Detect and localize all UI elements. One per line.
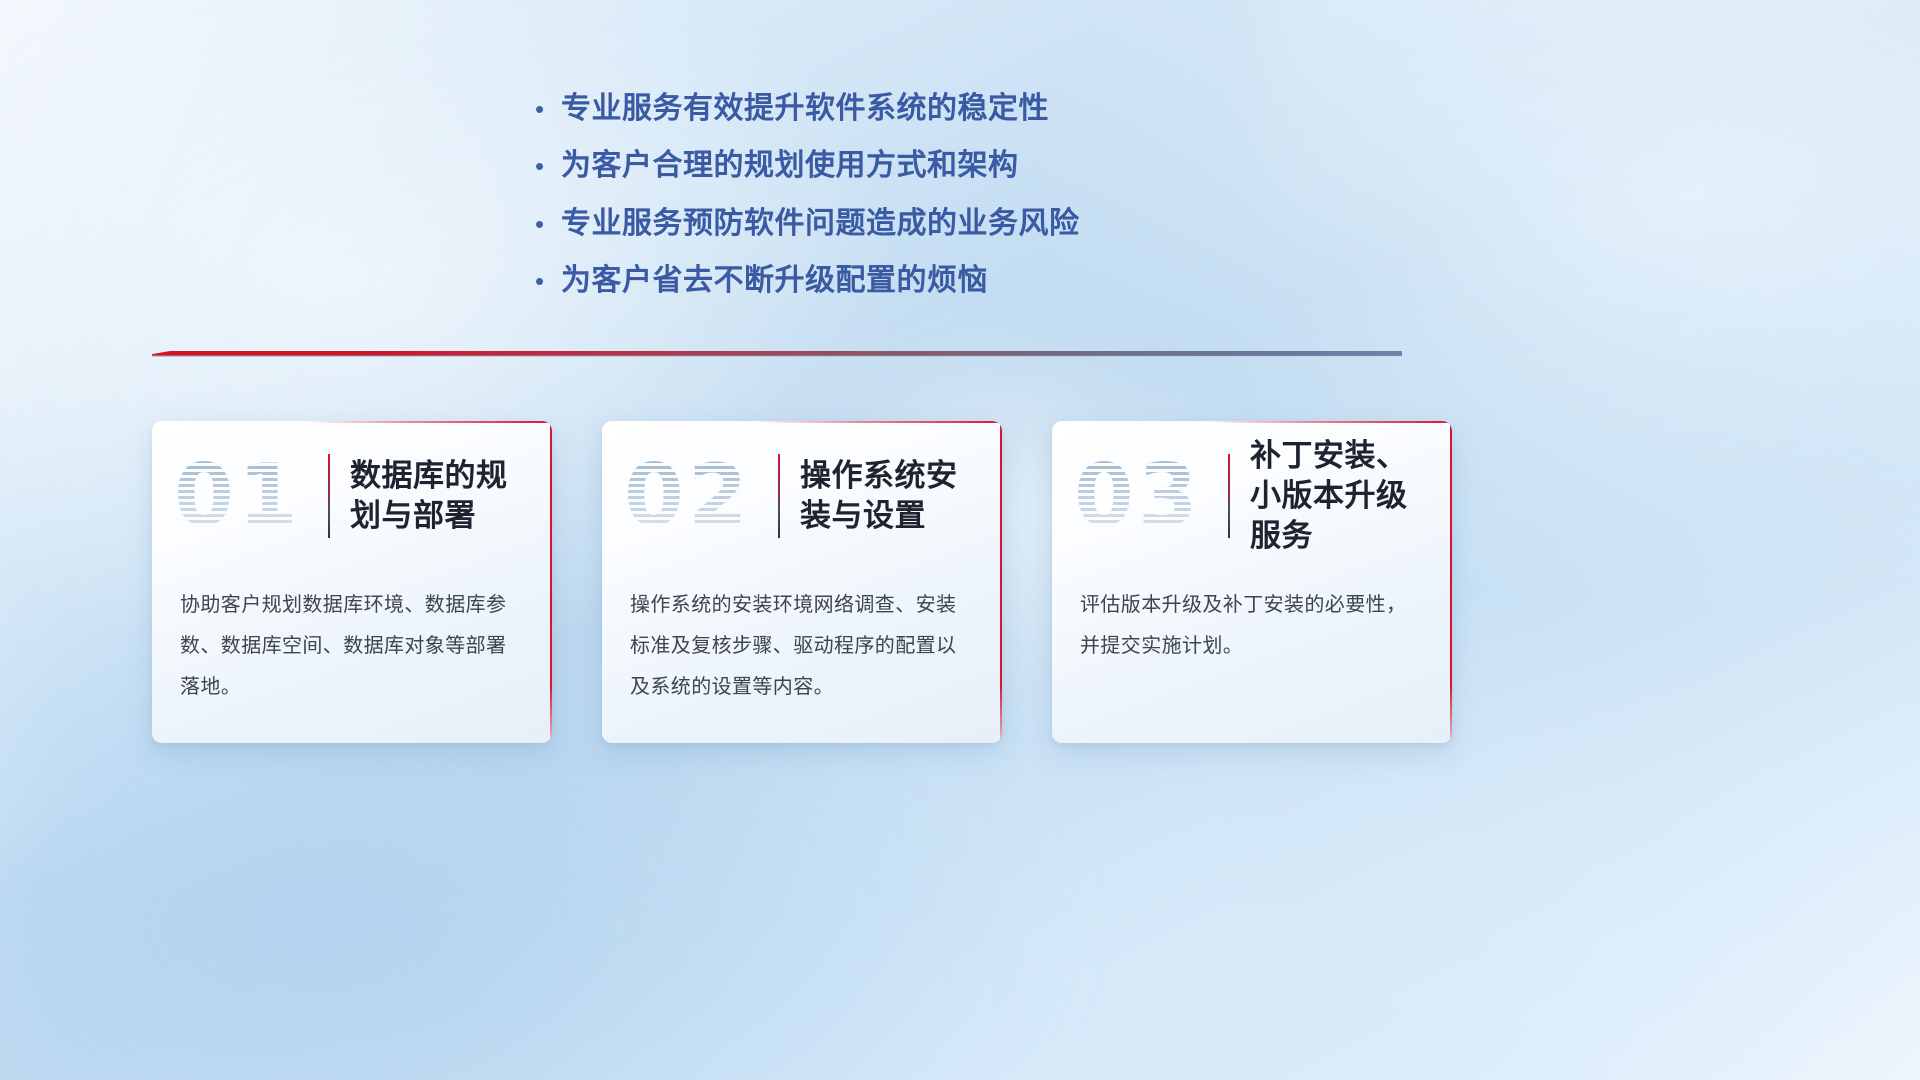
bullet-marker-icon: •: [535, 211, 561, 237]
bullet-text: 专业服务预防软件问题造成的业务风险: [561, 203, 1080, 244]
card-header: 03 补丁安装、小版本升级服务: [1052, 421, 1452, 571]
card-title: 补丁安装、小版本升级服务: [1250, 436, 1452, 555]
card-description: 操作系统的安装环境网络调查、安装标准及复核步骤、驱动程序的配置以及系统的设置等内…: [602, 571, 1002, 708]
card-header: 02 操作系统安装与设置: [602, 421, 1002, 571]
slide-canvas: • 专业服务有效提升软件系统的稳定性 • 为客户合理的规划使用方式和架构 • 专…: [0, 0, 1920, 1080]
card-header: 01 数据库的规划与部署: [152, 421, 552, 571]
service-card-03[interactable]: 03 补丁安装、小版本升级服务 评估版本升级及补丁安装的必要性，并提交实施计划。: [1052, 421, 1452, 743]
service-card-02[interactable]: 02 操作系统安装与设置 操作系统的安装环境网络调查、安装标准及复核步骤、驱动程…: [602, 421, 1002, 743]
bullet-marker-icon: •: [535, 153, 561, 179]
bullet-list: • 专业服务有效提升软件系统的稳定性 • 为客户合理的规划使用方式和架构 • 专…: [535, 88, 1435, 318]
section-divider: [152, 349, 1402, 359]
card-divider-rule: [778, 454, 780, 538]
card-description: 协助客户规划数据库环境、数据库参数、数据库空间、数据库对象等部署落地。: [152, 571, 552, 708]
bullet-text: 为客户合理的规划使用方式和架构: [561, 145, 1019, 186]
card-number: 01: [174, 448, 324, 544]
list-item: • 为客户省去不断升级配置的烦恼: [535, 260, 1435, 301]
card-number-text: 03: [1074, 448, 1224, 544]
card-title: 数据库的规划与部署: [350, 456, 552, 535]
card-title: 操作系统安装与设置: [800, 456, 1002, 535]
card-number: 02: [624, 448, 774, 544]
bullet-text: 专业服务有效提升软件系统的稳定性: [561, 88, 1049, 129]
divider-shadow: [152, 355, 1402, 357]
card-number-text: 01: [174, 448, 324, 544]
bullet-text: 为客户省去不断升级配置的烦恼: [561, 260, 988, 301]
card-divider-rule: [328, 454, 330, 538]
card-row: 01 数据库的规划与部署 协助客户规划数据库环境、数据库参数、数据库空间、数据库…: [152, 421, 1452, 745]
bullet-marker-icon: •: [535, 96, 561, 122]
card-description: 评估版本升级及补丁安装的必要性，并提交实施计划。: [1052, 571, 1452, 667]
service-card-01[interactable]: 01 数据库的规划与部署 协助客户规划数据库环境、数据库参数、数据库空间、数据库…: [152, 421, 552, 743]
list-item: • 为客户合理的规划使用方式和架构: [535, 145, 1435, 186]
bullet-marker-icon: •: [535, 268, 561, 294]
card-number-text: 02: [624, 448, 774, 544]
list-item: • 专业服务有效提升软件系统的稳定性: [535, 88, 1435, 129]
card-divider-rule: [1228, 454, 1230, 538]
card-number: 03: [1074, 448, 1224, 544]
list-item: • 专业服务预防软件问题造成的业务风险: [535, 203, 1435, 244]
